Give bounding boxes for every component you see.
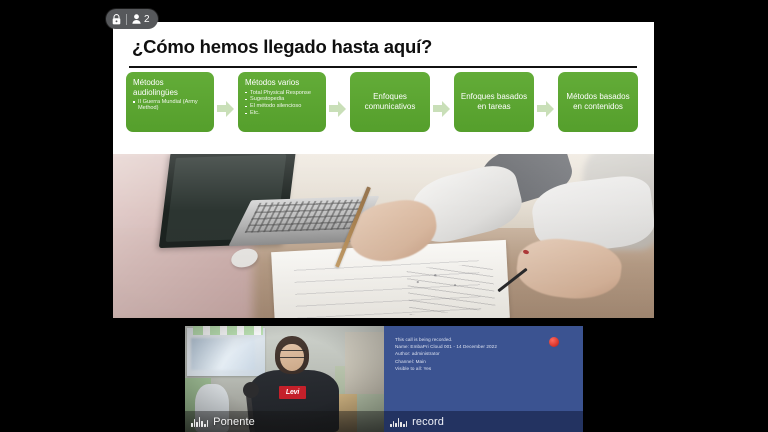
- flow-box-2-heading: Métodos varios: [245, 78, 320, 88]
- recording-line-2: Name: EmbaPri Cloud 001 - 14 December 20…: [395, 343, 545, 350]
- audio-level-icon: [191, 416, 208, 427]
- recording-label-bar: record: [384, 411, 583, 432]
- participant-count: 2: [144, 14, 150, 25]
- recording-line-1: This call is being recorded.: [395, 336, 545, 343]
- flow-box-1-bullets: II Guerra Mundial (Army Method): [133, 99, 208, 112]
- flow-box-1: Métodos audiolingües II Guerra Mundial (…: [126, 72, 214, 132]
- flow-box-5-heading: Métodos basados en contenidos: [563, 92, 633, 112]
- recording-line-5: Visible to all: Yes: [395, 365, 545, 372]
- video-conference-screen: 2 ¿Cómo hemos llegado hasta aquí? Método…: [0, 0, 768, 432]
- flow-box-3-heading: Enfoques comunicativos: [355, 92, 425, 112]
- flow-box-3: Enfoques comunicativos: [350, 72, 430, 132]
- recording-dot-icon: [549, 337, 559, 347]
- slide-photo: [113, 154, 654, 318]
- flow-box-2: Métodos varios Total Physical Response S…: [238, 72, 326, 132]
- list-item: El método silencioso: [245, 103, 320, 109]
- flow-box-1-heading: Métodos audiolingües: [133, 78, 208, 97]
- recording-line-4: Channel: Main: [395, 358, 545, 365]
- recording-info-tile[interactable]: This call is being recorded. Name: EmbaP…: [384, 326, 583, 432]
- shared-slide[interactable]: ¿Cómo hemos llegado hasta aquí? Métodos …: [113, 22, 654, 318]
- list-item: Total Physical Response: [245, 90, 320, 96]
- lock-icon: [112, 14, 121, 25]
- methods-flow-diagram: Métodos audiolingües II Guerra Mundial (…: [126, 72, 644, 144]
- slide-title: ¿Cómo hemos llegado hasta aquí?: [132, 36, 432, 58]
- person-icon: [132, 14, 141, 24]
- list-item: II Guerra Mundial (Army Method): [133, 99, 208, 112]
- presenter-name: Ponente: [213, 416, 255, 428]
- participant-tiles: Levi Ponente This call is being recorded…: [185, 326, 583, 432]
- list-item: Sugestopedia: [245, 96, 320, 102]
- recording-tile-name: record: [412, 416, 444, 428]
- list-item: Etc.: [245, 110, 320, 116]
- arrow-right-icon-3: [433, 100, 451, 116]
- flow-box-5: Métodos basados en contenidos: [558, 72, 638, 132]
- flow-box-2-bullets: Total Physical Response Sugestopedia El …: [245, 90, 320, 117]
- flow-box-4-heading: Enfoques basados en tareas: [459, 92, 529, 112]
- recording-details: This call is being recorded. Name: EmbaP…: [395, 336, 545, 372]
- title-divider: [129, 66, 637, 68]
- meeting-status-badge[interactable]: 2: [106, 9, 158, 29]
- arrow-right-icon-4: [537, 100, 555, 116]
- arrow-right-icon-2: [329, 100, 347, 116]
- arrow-right-icon-1: [217, 100, 235, 116]
- badge-divider: [126, 14, 127, 25]
- presenter-label-bar: Ponente: [185, 411, 384, 432]
- flow-box-4: Enfoques basados en tareas: [454, 72, 534, 132]
- photo-shading: [113, 154, 654, 318]
- recording-line-3: Author: administrator: [395, 350, 545, 357]
- presenter-video-tile[interactable]: Levi Ponente: [185, 326, 384, 432]
- audio-level-icon: [390, 416, 407, 427]
